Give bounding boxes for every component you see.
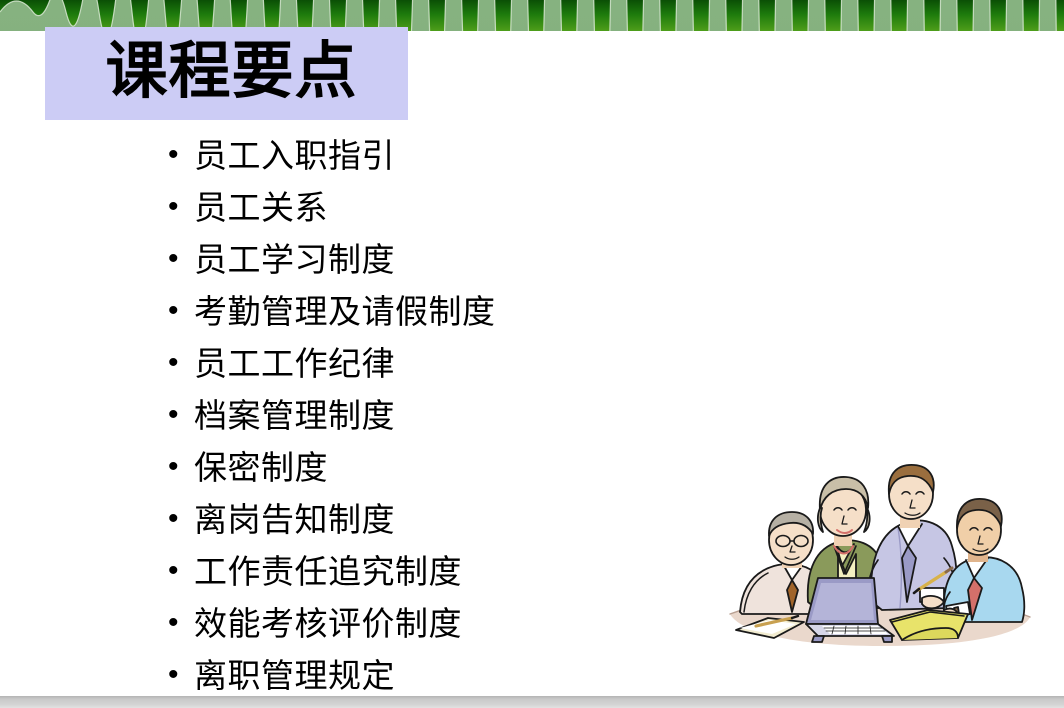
- list-item-label: 员工入职指引: [194, 134, 395, 178]
- list-item[interactable]: • 员工工作纪律: [160, 342, 760, 394]
- list-item[interactable]: • 工作责任追究制度: [160, 550, 760, 602]
- bullet-dot-icon: •: [160, 186, 194, 228]
- list-item[interactable]: • 离岗告知制度: [160, 498, 760, 550]
- list-item[interactable]: • 员工关系: [160, 186, 760, 238]
- bottom-edge-divider: [0, 696, 1064, 708]
- list-item-label: 档案管理制度: [194, 394, 395, 438]
- list-item[interactable]: • 效能考核评价制度: [160, 602, 760, 654]
- list-item-label: 离岗告知制度: [194, 498, 395, 542]
- list-item-label: 考勤管理及请假制度: [194, 290, 496, 334]
- list-item[interactable]: • 员工学习制度: [160, 238, 760, 290]
- bullet-dot-icon: •: [160, 654, 194, 696]
- list-item[interactable]: • 考勤管理及请假制度: [160, 290, 760, 342]
- list-item[interactable]: • 档案管理制度: [160, 394, 760, 446]
- page-title-box: 课程要点: [45, 27, 408, 120]
- bullet-dot-icon: •: [160, 134, 194, 176]
- bullet-dot-icon: •: [160, 290, 194, 332]
- list-item[interactable]: • 员工入职指引: [160, 134, 760, 186]
- bullet-dot-icon: •: [160, 550, 194, 592]
- list-item-label: 员工工作纪律: [194, 342, 395, 386]
- slide-canvas: 课程要点 • 员工入职指引 • 员工关系 • 员工学习制度 • 考勤管理及请假制…: [0, 0, 1064, 708]
- list-item-label: 效能考核评价制度: [194, 602, 462, 646]
- course-key-points-list: • 员工入职指引 • 员工关系 • 员工学习制度 • 考勤管理及请假制度 • 员…: [160, 134, 760, 706]
- bullet-dot-icon: •: [160, 394, 194, 436]
- list-item-label: 保密制度: [194, 446, 328, 490]
- bullet-dot-icon: •: [160, 602, 194, 644]
- bullet-dot-icon: •: [160, 238, 194, 280]
- page-title: 课程要点: [87, 41, 365, 103]
- list-item-label: 员工关系: [194, 186, 328, 230]
- list-item-label: 离职管理规定: [194, 654, 395, 698]
- business-team-around-laptop-clipart: [722, 462, 1040, 677]
- bullet-dot-icon: •: [160, 446, 194, 488]
- bullet-dot-icon: •: [160, 342, 194, 384]
- list-item-label: 工作责任追究制度: [194, 550, 462, 594]
- bullet-dot-icon: •: [160, 498, 194, 540]
- list-item[interactable]: • 保密制度: [160, 446, 760, 498]
- list-item-label: 员工学习制度: [194, 238, 395, 282]
